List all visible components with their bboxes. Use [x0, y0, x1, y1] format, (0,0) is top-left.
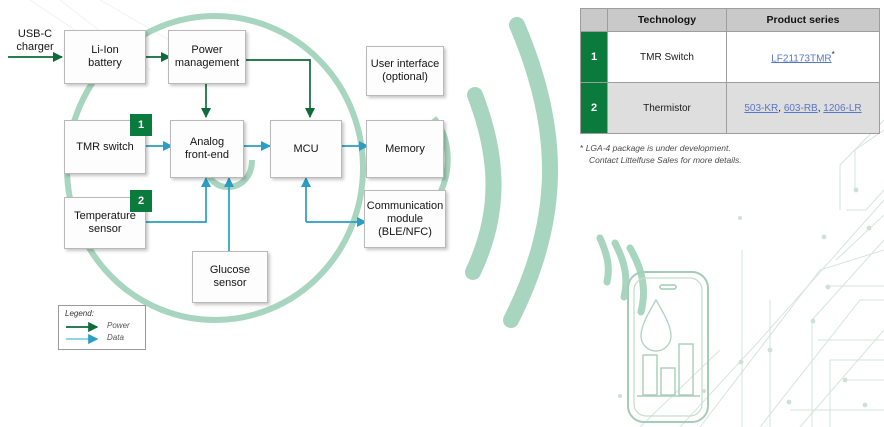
table-row: 2 Thermistor 503-KR, 603-RB, 1206-LR: [581, 83, 880, 134]
table-footnote: * LGA-4 package is under development. Co…: [580, 143, 880, 166]
header-number: [581, 9, 608, 32]
node-label: Communicationmodule(BLE/NFC): [367, 200, 443, 239]
footnote-line2: Contact Littelfuse Sales for more detail…: [589, 155, 742, 167]
footnote-marker: *: [580, 143, 583, 153]
node-label: Glucosesensor: [210, 264, 250, 290]
node-user-interface[interactable]: User interface(optional): [366, 46, 444, 96]
legend-label-data: Data: [107, 333, 124, 342]
footnote-line1: LGA-4 package is under development.: [586, 143, 731, 153]
legend-box: Legend: Power Data: [58, 305, 146, 350]
usb-c-charger-line1: USB-C: [18, 28, 52, 40]
row-product-series: 503-KR, 603-RB, 1206-LR: [727, 83, 880, 134]
node-memory[interactable]: Memory: [366, 120, 444, 178]
product-link-lf21173tmr[interactable]: LF21173TMR: [771, 53, 831, 64]
row-technology: TMR Switch: [608, 32, 727, 83]
legend-label-power: Power: [107, 321, 130, 330]
usb-c-charger-line2: charger: [16, 41, 53, 53]
bar-chart-icon: [637, 344, 700, 396]
slide-canvas: USB-C charger Li-Ionbattery Powermanagem…: [0, 0, 884, 427]
product-link-1206-lr[interactable]: 1206-LR: [823, 103, 861, 114]
badge-2[interactable]: 2: [130, 190, 152, 212]
header-product-series: Product series: [727, 9, 880, 32]
row-product-series: LF21173TMR*: [727, 32, 880, 83]
node-communication-module[interactable]: Communicationmodule(BLE/NFC): [364, 190, 446, 248]
row-technology: Thermistor: [608, 83, 727, 134]
product-link-503-kr[interactable]: 503-KR: [744, 103, 778, 114]
row-number-badge: 1: [581, 32, 608, 83]
phone-illustration: [628, 272, 708, 422]
circuit-trace-nodes: [618, 188, 871, 408]
node-mcu[interactable]: MCU: [270, 120, 342, 178]
table-header-row: Technology Product series: [581, 9, 880, 32]
node-power-management[interactable]: Powermanagement: [168, 30, 246, 84]
node-label: Temperaturesensor: [74, 210, 136, 236]
table-row: 1 TMR Switch LF21173TMR*: [581, 32, 880, 83]
badge-1[interactable]: 1: [130, 114, 152, 136]
power-connectors: [8, 57, 310, 117]
row-number-badge: 2: [581, 83, 608, 134]
usb-c-charger-label: USB-C charger: [4, 28, 66, 54]
node-li-ion-battery[interactable]: Li-Ionbattery: [64, 30, 146, 84]
droplet-icon: [641, 300, 671, 351]
node-label: User interface(optional): [371, 58, 439, 84]
node-label: Analogfront-end: [185, 136, 229, 162]
header-technology: Technology: [608, 9, 727, 32]
node-label: TMR switch: [76, 141, 133, 154]
node-label: Li-Ionbattery: [88, 44, 122, 70]
node-label: MCU: [293, 143, 318, 156]
node-label: Powermanagement: [175, 44, 239, 70]
legend-arrows: [59, 306, 147, 351]
node-analog-front-end[interactable]: Analogfront-end: [170, 120, 244, 178]
big-signal-arcs: [473, 25, 550, 320]
product-table: Technology Product series 1 TMR Switch L…: [580, 8, 880, 134]
footnote-marker-superscript: *: [832, 50, 835, 59]
node-glucose-sensor[interactable]: Glucosesensor: [192, 251, 268, 303]
circuit-trace-pattern: [640, 120, 884, 427]
node-label: Memory: [385, 143, 425, 156]
product-link-603-rb[interactable]: 603-RB: [784, 103, 818, 114]
phone-signal-arcs: [600, 238, 643, 312]
